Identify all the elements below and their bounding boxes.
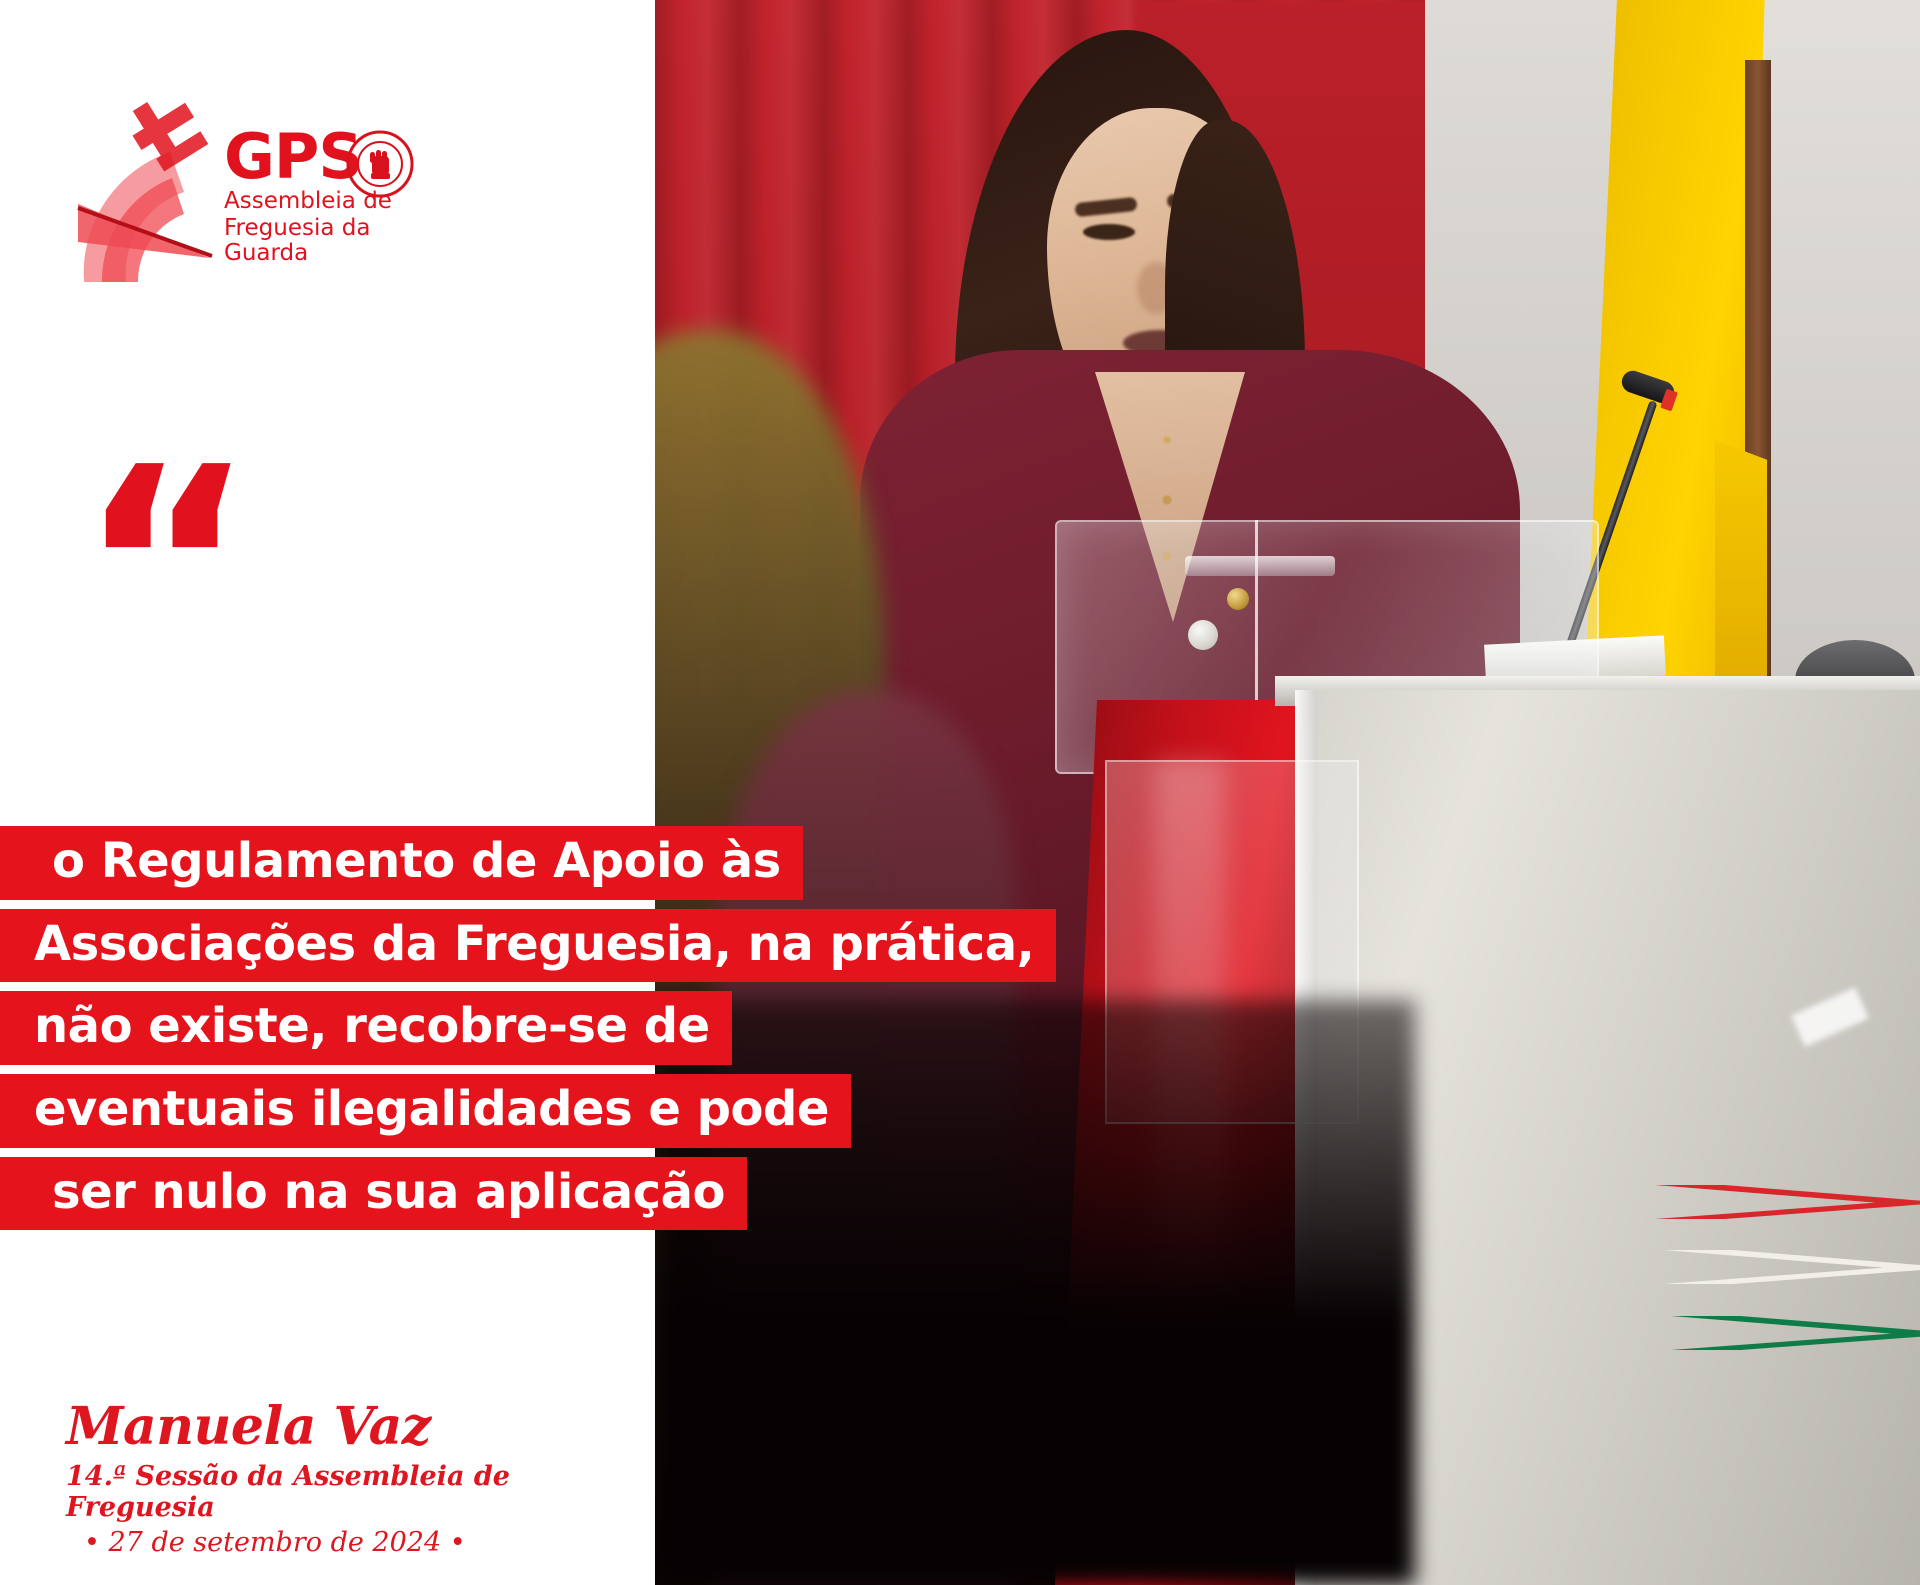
quote-text-block: o Regulamento de Apoio às Associações da… (0, 826, 1250, 1239)
lectern-shield-knob (1227, 588, 1249, 610)
gps-wordmark: GPS (224, 120, 362, 193)
gps-logo-mark-icon (72, 96, 222, 286)
quote-line: Associações da Freguesia, na prática, (0, 909, 1056, 983)
speaker-photo: FREG GUA (655, 0, 1920, 1585)
session-date: • 27 de setembro de 2024 • (66, 1527, 655, 1558)
speaker-eye-left (1083, 224, 1135, 240)
partido-socialista-fist-icon (346, 130, 414, 198)
quote-line: o Regulamento de Apoio às (0, 826, 803, 900)
gps-logo-subtitle-line2: Freguesia da Guarda (224, 216, 422, 267)
quote-line: ser nulo na sua aplicação (0, 1157, 747, 1231)
session-label: 14.ª Sessão da Assembleia de Freguesia (66, 1461, 655, 1523)
speaker-name: Manuela Vaz (66, 1400, 655, 1455)
gps-logo[interactable]: GPS (72, 96, 422, 286)
opening-quote-mark-icon: “ (78, 432, 249, 702)
left-content-panel: GPS (0, 0, 655, 1585)
attribution-block: Manuela Vaz 14.ª Sessão da Assembleia de… (66, 1400, 655, 1558)
poster-canvas: FREG GUA (0, 0, 1920, 1585)
quote-line: não existe, recobre-se de (0, 991, 732, 1065)
lectern-shield-clip (1185, 556, 1335, 576)
gps-logo-text: GPS (224, 128, 422, 267)
quote-line: eventuais ilegalidades e pode (0, 1074, 851, 1148)
